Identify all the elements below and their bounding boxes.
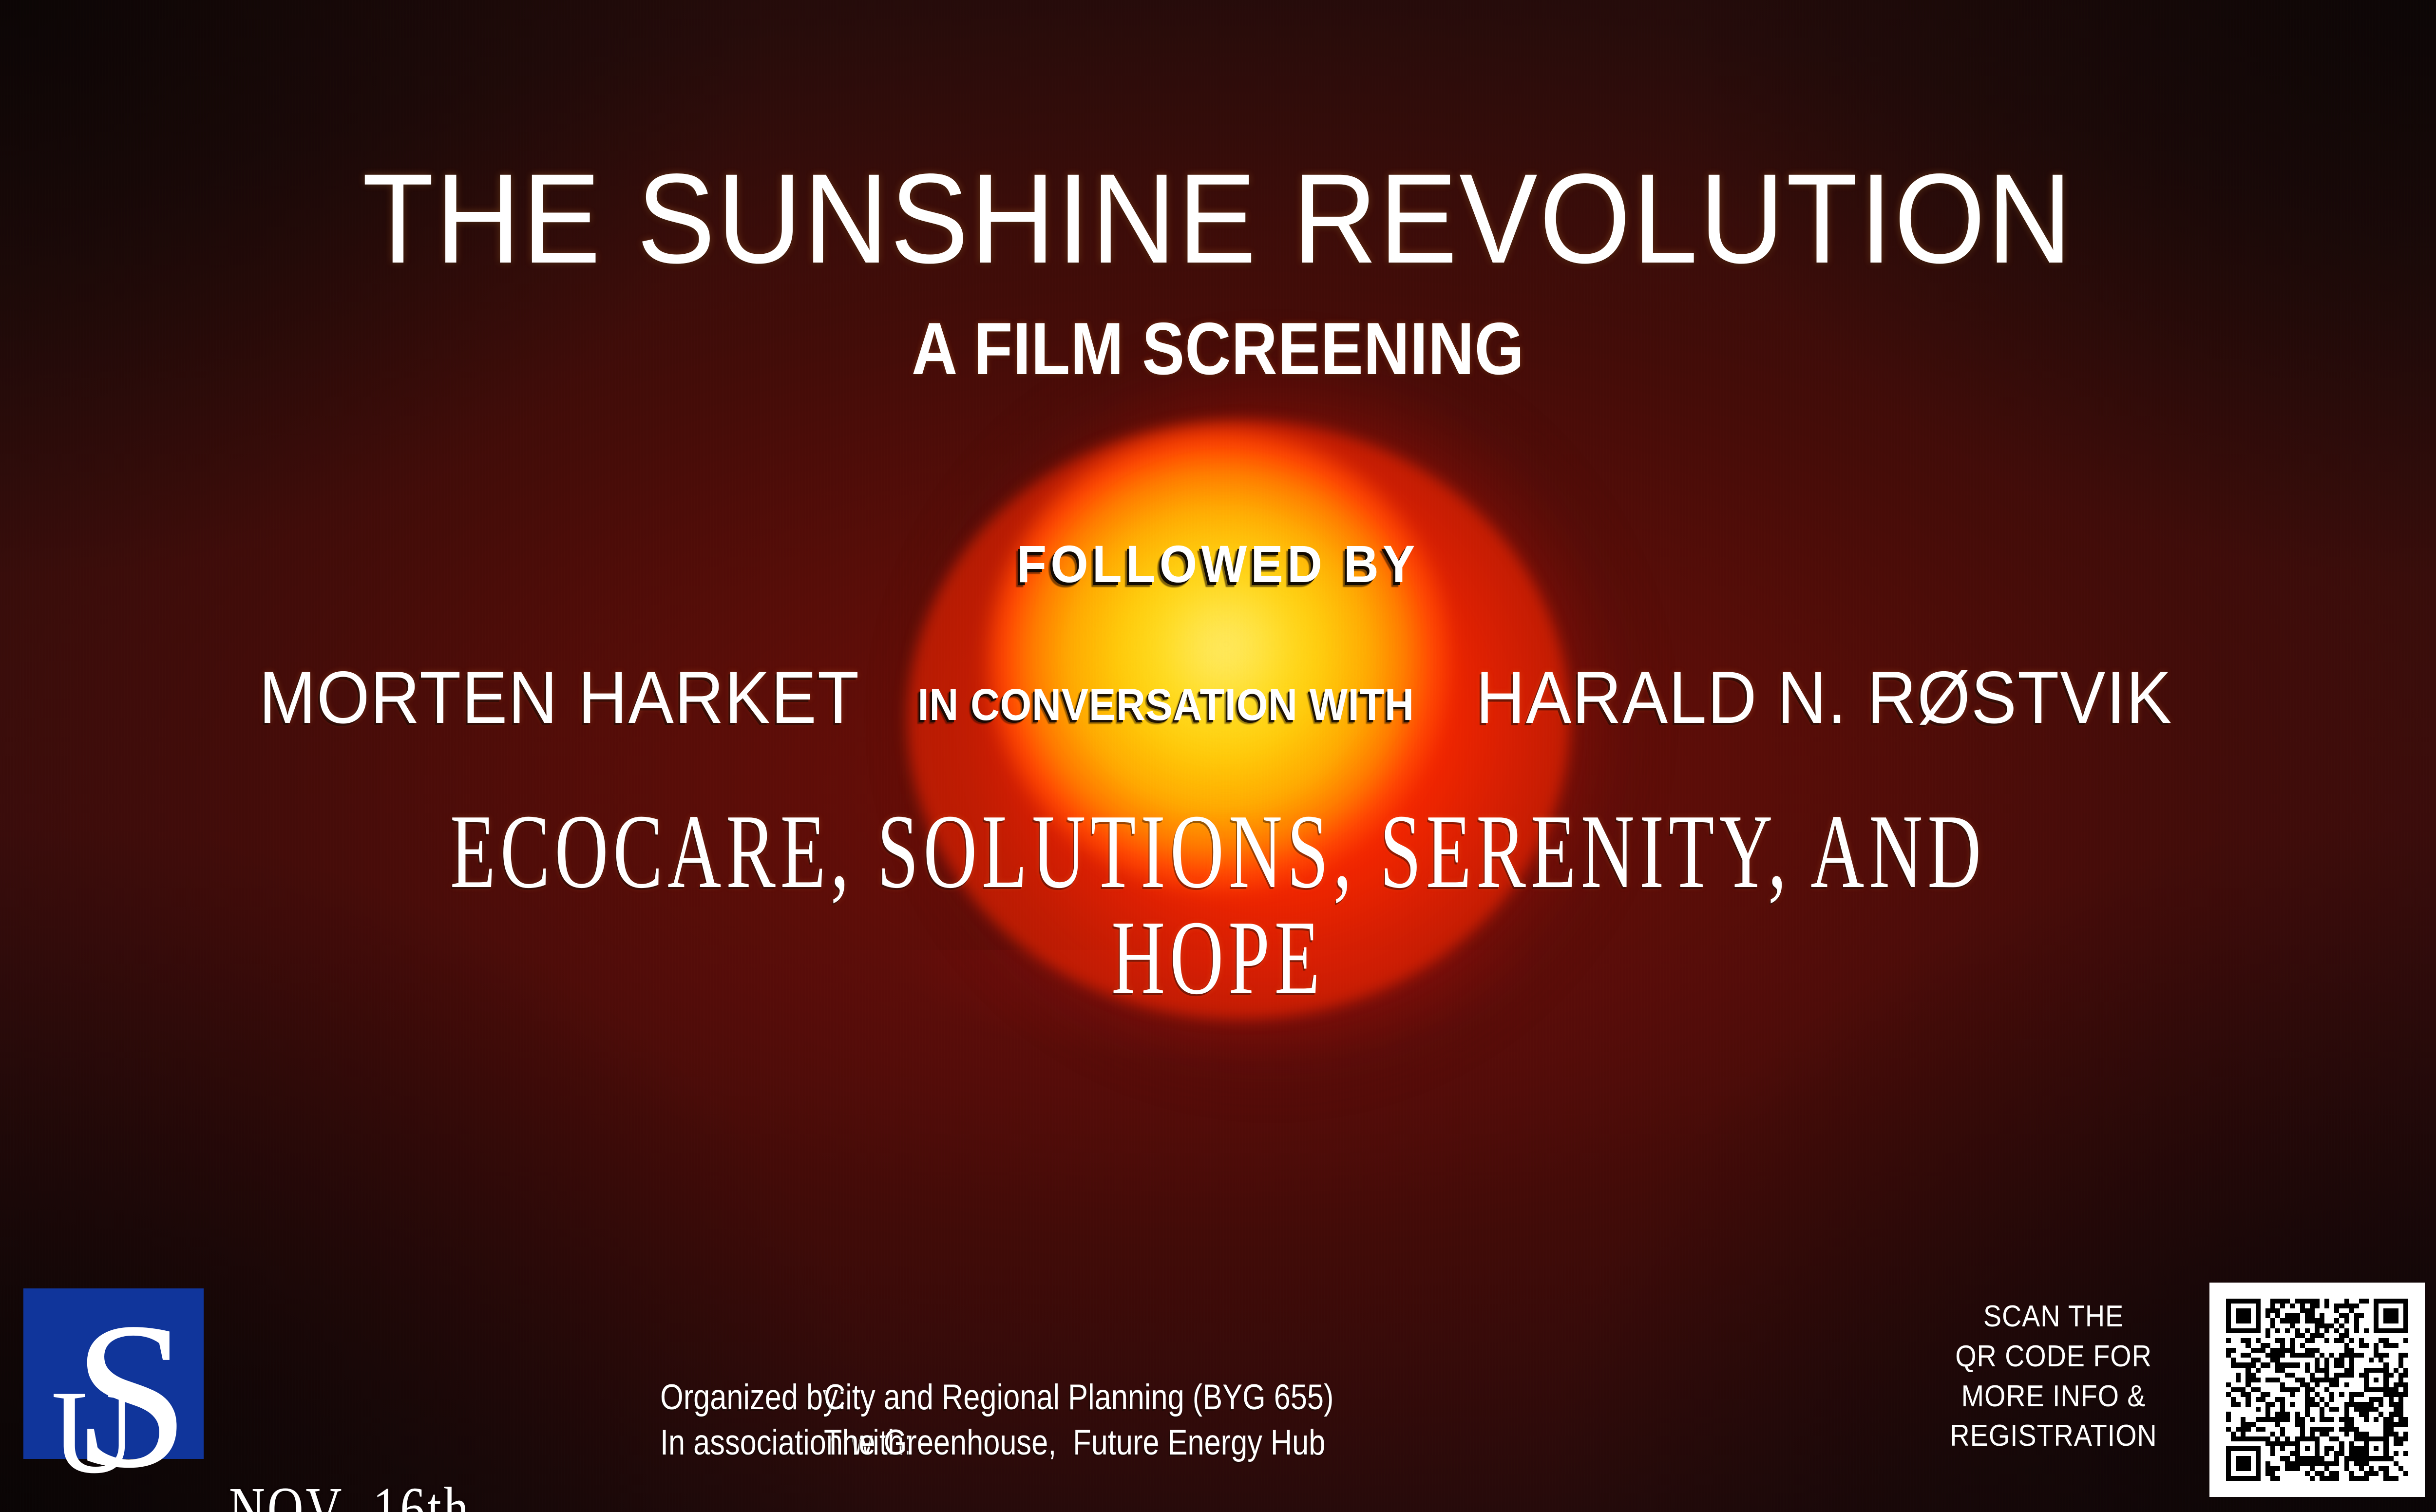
qr-code-panel[interactable] (2209, 1283, 2425, 1497)
credits-block: Organized by: City and Regional Planning… (660, 1375, 1333, 1466)
qr-instruction-text: SCAN THE QR CODE FOR MORE INFO & REGISTR… (1931, 1297, 2176, 1456)
qr-instruction-line-3: MORE INFO & (1931, 1377, 2176, 1417)
credits-row-association: In association with: The Greenhouse, Fut… (660, 1420, 1333, 1465)
event-datetime: NOV 16th 1215 1345 (229, 1328, 477, 1512)
association-label: In association with: (660, 1420, 824, 1465)
logo-letter-s: S (73, 1291, 190, 1500)
credits-row-organized: Organized by: City and Regional Planning… (660, 1375, 1333, 1420)
organized-by-value: City and Regional Planning (BYG 655) (824, 1375, 1333, 1420)
qr-instruction-line-4: REGISTRATION (1931, 1416, 2176, 1456)
association-value: The Greenhouse, Future Energy Hub (824, 1420, 1333, 1465)
organized-by-label: Organized by: (660, 1375, 824, 1420)
qr-instruction-line-2: QR CODE FOR (1931, 1337, 2176, 1377)
event-date: NOV 16th (229, 1473, 477, 1512)
footer-bar: U S NOV 16th 1215 1345 Organized by: Cit… (0, 0, 2436, 1512)
qr-code-matrix[interactable] (2226, 1299, 2408, 1481)
qr-instruction-line-1: SCAN THE (1931, 1297, 2176, 1337)
poster-canvas: THE SUNSHINE REVOLUTION A FILM SCREENING… (0, 0, 2436, 1512)
